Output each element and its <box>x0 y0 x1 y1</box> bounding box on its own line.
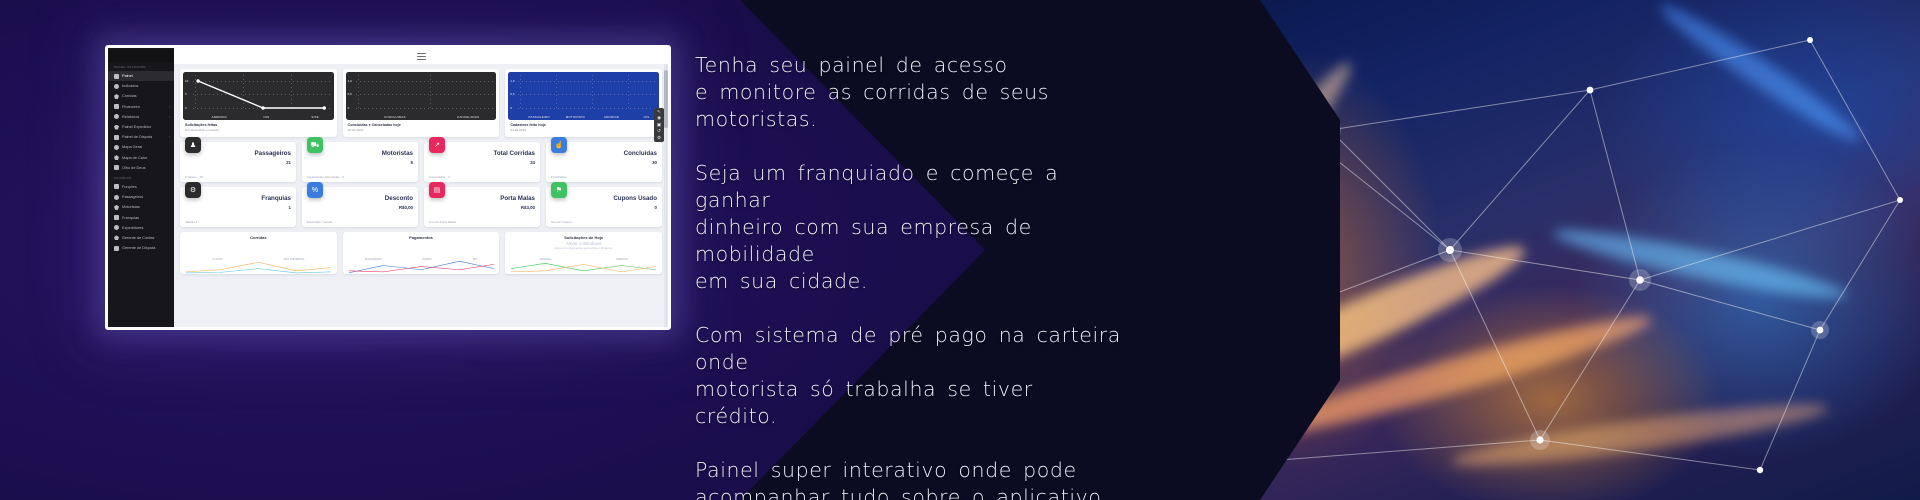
toolbar-icon[interactable]: ↖ <box>657 110 661 114</box>
sidebar-item-franquias[interactable]: Franquias <box>108 212 174 222</box>
gridline-vertical <box>628 75 629 109</box>
stat-label: Concluidas <box>624 150 657 157</box>
sidebar-item-label: Franquias <box>122 216 139 220</box>
dashboard-sidebar[interactable]: PAINEL OPERADOR PainelIndicadosCorridasF… <box>108 48 174 327</box>
gavel-icon <box>114 246 119 251</box>
sidebar-item-label: Olho de Deus <box>122 166 146 170</box>
marketing-paragraph-2: Seja um franquiado e começe a ganhar din… <box>695 160 1125 295</box>
x-axis-tick: IOS <box>644 115 650 119</box>
stat-icon-glyph: ↗ <box>434 142 440 149</box>
stat-label: Desconto <box>385 195 413 202</box>
wallet-icon <box>114 104 119 109</box>
gridline-horizontal <box>518 108 656 109</box>
y-axis-tick: 0,5 <box>348 92 352 96</box>
toolbar-icon[interactable]: ▣ <box>657 123 661 127</box>
network-icon <box>114 215 119 220</box>
sidebar-item-label: Expedidores <box>122 226 143 230</box>
chart-plot-area: 1050ANDROIDIOSSITE <box>183 72 334 120</box>
heatmap-icon <box>114 155 119 160</box>
thumbs-up-icon: ☝ <box>551 137 567 153</box>
sidebar-section-operador: PAINEL OPERADOR <box>108 62 174 71</box>
stat-card[interactable]: %DescontoR$0,00Educação / Saúde <box>302 187 418 227</box>
y-axis-tick: 1,0 <box>348 79 352 83</box>
sidebar-item-label: Painel de Disputa <box>122 135 152 139</box>
chevron-right-icon: › <box>169 135 170 139</box>
chart-caption: Cadastros feito hoje04-02-2022 <box>508 120 659 134</box>
sidebar-item-painel[interactable]: Painel <box>108 71 174 81</box>
store-icon: ⚙ <box>185 182 201 198</box>
sidebar-group-usuarios: FunçõesPassageirosMotoristasFranquiasExp… <box>108 182 174 253</box>
panel-card: Solicitações de HojeAtivar o WindowsAces… <box>505 232 662 274</box>
chart-plot-area: 1,00,50CONCLUIDASCANCELADAS <box>346 72 497 120</box>
panel-title: Solicitações de Hoje <box>508 235 659 240</box>
x-axis-tick: ANDROID <box>604 115 619 119</box>
map-icon <box>114 145 119 150</box>
stat-card[interactable]: ☝Concluidas30Finalizadas <box>546 142 662 182</box>
chart-plot-area: 1,00,50PASSAGEIROMOTORISTAANDROIDIOS <box>508 72 659 120</box>
home-icon <box>114 74 119 79</box>
x-axis-tick: PASSAGEIRO <box>528 115 549 119</box>
stat-card[interactable]: ⚙Franquias1Validas 1 <box>180 187 296 227</box>
chart-caption-subtitle: 04-02-2022 <box>348 128 495 132</box>
stat-sublabel: Canceladas - 4 <box>429 175 450 179</box>
panel-card: Corridas% CONCNÃO ATENDIDAS <box>180 232 337 274</box>
stat-card[interactable]: ♟Passageiros21Análises - 15 <box>180 142 296 182</box>
chevron-right-icon: › <box>169 105 170 109</box>
stat-card[interactable]: ⚑Cupons Usado0Uso de Cupons <box>546 187 662 227</box>
sidebar-item-expedidores[interactable]: Expedidores <box>108 223 174 233</box>
panel-sparkline <box>345 258 498 274</box>
line-series <box>183 72 334 120</box>
x-axis-tick: CONCLUIDAS <box>384 115 406 119</box>
sidebar-item-label: Mapa Geral <box>122 145 142 149</box>
stat-sublabel: Educação / Saúde <box>307 220 332 224</box>
gridline-horizontal <box>356 81 494 82</box>
chart-card: 1,00,50CONCLUIDASCANCELADASConcluídas e … <box>343 69 500 137</box>
marketing-paragraph-1: Tenha seu painel de acesso e monitore as… <box>695 52 1125 133</box>
gridline-horizontal <box>518 81 656 82</box>
stat-icon-glyph: ▤ <box>434 187 441 194</box>
sidebar-item-label: Passageiros <box>122 195 143 199</box>
sidebar-item-label: Relatórios <box>122 115 139 119</box>
car-icon: ⛟ <box>307 137 323 153</box>
sidebar-item-label: Motoristas <box>122 205 140 209</box>
windows-watermark-subtitle: Acesse Configurações para ativar o Windo… <box>508 246 659 250</box>
panel-sparkline <box>507 258 660 274</box>
sidebar-item-label: Corridas <box>122 94 137 98</box>
chart-caption-title: Solicitações feitas <box>185 123 332 127</box>
x-axis-tick: MOTORISTA <box>566 115 585 119</box>
x-axis-tick: CANCELADAS <box>457 115 479 119</box>
passenger-icon: ♟ <box>185 137 201 153</box>
sidebar-item-passageiros[interactable]: Passageiros <box>108 192 174 202</box>
panel-sparkline <box>182 258 335 274</box>
stat-sublabel: Aguardando Aprovação - 0 <box>307 175 344 179</box>
stat-value: 21 <box>286 160 291 165</box>
stat-row-1: ♟Passageiros21Análises - 15⛟Motoristas5A… <box>174 137 668 182</box>
stat-sublabel: Uso de Cupons <box>551 220 572 224</box>
stat-label: Motoristas <box>382 150 413 157</box>
sidebar-item-mapa-de-calor[interactable]: Mapa de Calor <box>108 153 174 163</box>
gridline-vertical <box>430 75 431 109</box>
shield-icon <box>114 184 119 189</box>
manager-icon <box>114 235 119 240</box>
promo-banner: Tenha seu painel de acesso e monitore as… <box>0 0 1920 500</box>
y-axis-tick: 0 <box>348 106 350 110</box>
stat-label: Cupons Usado <box>613 195 657 202</box>
floating-toolbar[interactable]: ↖◉▣↺⚙ <box>654 108 664 142</box>
marketing-paragraph-4: Painel super interativo onde pode acompa… <box>695 457 1125 500</box>
sidebar-item-painel-de-disputa[interactable]: Painel de Disputa› <box>108 132 174 142</box>
sidebar-group-operador: PainelIndicadosCorridasFinanceiro›Relató… <box>108 71 174 173</box>
panel-title: Corridas <box>183 235 334 240</box>
chart-icon <box>114 114 119 119</box>
gridline-vertical <box>520 75 521 109</box>
toolbar-icon[interactable]: ↺ <box>657 129 661 133</box>
panel-title: Pagamentos <box>346 235 497 240</box>
chart-card: 1,00,50PASSAGEIROMOTORISTAANDROIDIOSCada… <box>505 69 662 137</box>
gridline-horizontal <box>356 94 494 95</box>
dashboard-screenshot: PAINEL OPERADOR PainelIndicadosCorridasF… <box>105 45 671 330</box>
sidebar-item-label: Gerente de Disputa <box>122 246 155 250</box>
sidebar-item-financeiro[interactable]: Financeiro› <box>108 102 174 112</box>
headset-icon <box>114 225 119 230</box>
y-axis-tick: 1,0 <box>510 79 514 83</box>
stat-sublabel: Uso de Porta Malas <box>429 220 456 224</box>
stat-value: R$0,00 <box>399 205 413 210</box>
sidebar-item-painel-expedidor[interactable]: Painel Expedidor <box>108 122 174 132</box>
panel-card: PagamentosMAQUININHAPIX/PAYPIX <box>343 232 500 274</box>
sidebar-item-gerente-de-disputa[interactable]: Gerente de Disputa <box>108 243 174 253</box>
sidebar-item-motoristas[interactable]: Motoristas <box>108 202 174 212</box>
sidebar-section-usuarios: USUÁRIOS <box>108 173 174 182</box>
dispatch-icon <box>114 125 119 130</box>
sidebar-item-label: Funções <box>122 185 137 189</box>
chart-caption-subtitle: 04-02-2022 <box>510 128 657 132</box>
stat-sublabel: Validas 1 <box>185 220 198 224</box>
dashboard-topbar <box>174 48 668 64</box>
sidebar-item-label: Painel <box>122 74 133 78</box>
chart-caption: Solicitações feitasPor dispositivo e Cen… <box>183 120 334 134</box>
sidebar-item-mapa-geral[interactable]: Mapa Geral <box>108 142 174 152</box>
marketing-copy: Tenha seu painel de acesso e monitore as… <box>695 52 1125 500</box>
chart-row: 1050ANDROIDIOSSITESolicitações feitasPor… <box>174 64 668 137</box>
stat-value: 1 <box>289 205 291 210</box>
stat-label: Porta Malas <box>500 195 535 202</box>
panel-row: Corridas% CONCNÃO ATENDIDASPagamentosMAQ… <box>174 227 668 274</box>
gridline-vertical <box>592 75 593 109</box>
sidebar-item-label: Painel Expedidor <box>122 125 151 129</box>
stat-icon-glyph: ⚙ <box>190 187 196 194</box>
stat-sublabel: Análises - 15 <box>185 175 203 179</box>
chevron-right-icon: › <box>169 115 170 119</box>
trend-icon: ↗ <box>429 137 445 153</box>
car-icon <box>114 94 119 99</box>
sidebar-item-label: Gerente de Contas <box>122 236 154 240</box>
eye-icon <box>114 165 119 170</box>
gridline-horizontal <box>518 94 656 95</box>
chart-caption: Concluídas e Canceladas hoje04-02-2022 <box>346 120 497 134</box>
y-axis-tick: 0,5 <box>510 92 514 96</box>
sidebar-item-olho-de-deus[interactable]: Olho de Deus <box>108 163 174 173</box>
stat-value: 5 <box>411 160 413 165</box>
sidebar-item-gerente-de-contas[interactable]: Gerente de Contas <box>108 233 174 243</box>
vertical-scrollbar-thumb[interactable] <box>664 70 668 128</box>
toolbar-icon[interactable]: ◉ <box>657 116 661 120</box>
stat-icon-glyph: ⚑ <box>556 187 562 194</box>
toolbar-icon[interactable]: ⚙ <box>657 136 661 140</box>
stat-sublabel: Finalizadas <box>551 175 567 179</box>
stat-label: Passageiros <box>255 150 291 157</box>
hamburger-icon[interactable] <box>417 53 426 60</box>
sidebar-item-corridas[interactable]: Corridas <box>108 91 174 101</box>
sidebar-item-label: Indicados <box>122 84 138 88</box>
bag-icon: ▤ <box>429 182 445 198</box>
sidebar-item-indicados[interactable]: Indicados <box>108 81 174 91</box>
stat-value: R$3,00 <box>521 205 535 210</box>
user-icon <box>114 195 119 200</box>
ticket-icon: ⚑ <box>551 182 567 198</box>
stat-icon-glyph: % <box>312 187 318 194</box>
sidebar-brand <box>108 50 174 62</box>
percent-icon: % <box>307 182 323 198</box>
stat-icon-glyph: ⛟ <box>311 142 320 149</box>
gridline-horizontal <box>356 108 494 109</box>
flag-icon <box>114 135 119 140</box>
gift-icon <box>114 84 119 89</box>
stat-value: 34 <box>530 160 535 165</box>
stat-card[interactable]: ↗Total Corridas34Canceladas - 4 <box>424 142 540 182</box>
stat-icon-glyph: ☝ <box>555 142 564 149</box>
dashboard-main: 1050ANDROIDIOSSITESolicitações feitasPor… <box>174 48 668 327</box>
stat-card[interactable]: ⛟Motoristas5Aguardando Aprovação - 0 <box>302 142 418 182</box>
gridline-vertical <box>556 75 557 109</box>
chart-caption-title: Concluídas e Canceladas hoje <box>348 123 495 127</box>
stat-value: 30 <box>652 160 657 165</box>
sidebar-item-fun-es[interactable]: Funções <box>108 182 174 192</box>
stat-value: 0 <box>655 205 657 210</box>
sidebar-item-relat-rios[interactable]: Relatórios› <box>108 112 174 122</box>
chart-caption-subtitle: Por dispositivo e Central <box>185 128 332 132</box>
marketing-paragraph-3: Com sistema de pré pago na carteira onde… <box>695 322 1125 430</box>
stat-label: Franquias <box>261 195 291 202</box>
sidebar-item-label: Financeiro <box>122 105 140 109</box>
stat-row-2: ⚙Franquias1Validas 1%DescontoR$0,00Educa… <box>174 182 668 227</box>
chart-caption-title: Cadastros feito hoje <box>510 123 657 127</box>
stat-icon-glyph: ♟ <box>190 142 196 149</box>
gridline-vertical <box>358 75 359 109</box>
stat-card[interactable]: ▤Porta MalasR$3,00Uso de Porta Malas <box>424 187 540 227</box>
stat-label: Total Corridas <box>494 150 535 157</box>
y-axis-tick: 0 <box>510 106 512 110</box>
id-card-icon <box>114 205 119 210</box>
sidebar-item-label: Mapa de Calor <box>122 156 147 160</box>
chart-card: 1050ANDROIDIOSSITESolicitações feitasPor… <box>180 69 337 137</box>
